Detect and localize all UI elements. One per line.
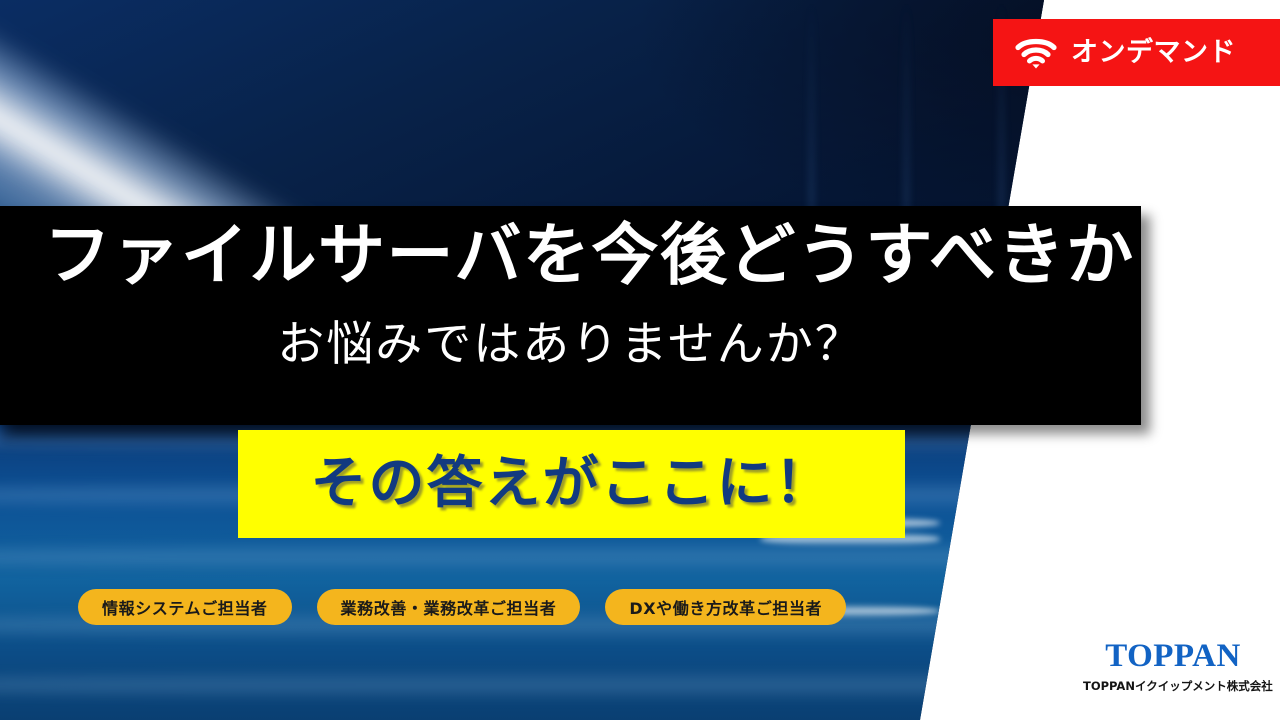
slide-canvas: オンデマンド ファイルサーバを今後どうすべきか お悩みではありませんか？ その答… xyxy=(0,0,1280,720)
water-wave xyxy=(0,544,1280,570)
headline-main-text: ファイルサーバを今後どうすべきか xyxy=(44,220,1114,290)
on-demand-badge: オンデマンド xyxy=(993,19,1280,86)
audience-pill-2: 業務改善・業務改革ご担当者 xyxy=(317,589,581,625)
audience-pill-3: DXや働き方改革ご担当者 xyxy=(605,589,846,625)
answer-banner: その答えがここに！ xyxy=(238,430,905,538)
answer-banner-text: その答えがここに！ xyxy=(311,456,833,512)
toppan-wordmark: TOPPAN xyxy=(1083,640,1263,673)
audience-pill-1: 情報システムご担当者 xyxy=(78,589,292,625)
wifi-icon xyxy=(1015,37,1057,69)
headline-sub-text: お悩みではありませんか？ xyxy=(0,316,1141,375)
headline-box: ファイルサーバを今後どうすべきか お悩みではありませんか？ xyxy=(0,206,1141,425)
toppan-company-name: TOPPANイクイップメント株式会社 xyxy=(1083,681,1263,693)
toppan-logo: TOPPAN TOPPANイクイップメント株式会社 xyxy=(1083,640,1263,693)
on-demand-label: オンデマンド xyxy=(1071,39,1236,66)
audience-pill-row: 情報システムご担当者 業務改善・業務改革ご担当者 DXや働き方改革ご担当者 xyxy=(78,589,1078,625)
